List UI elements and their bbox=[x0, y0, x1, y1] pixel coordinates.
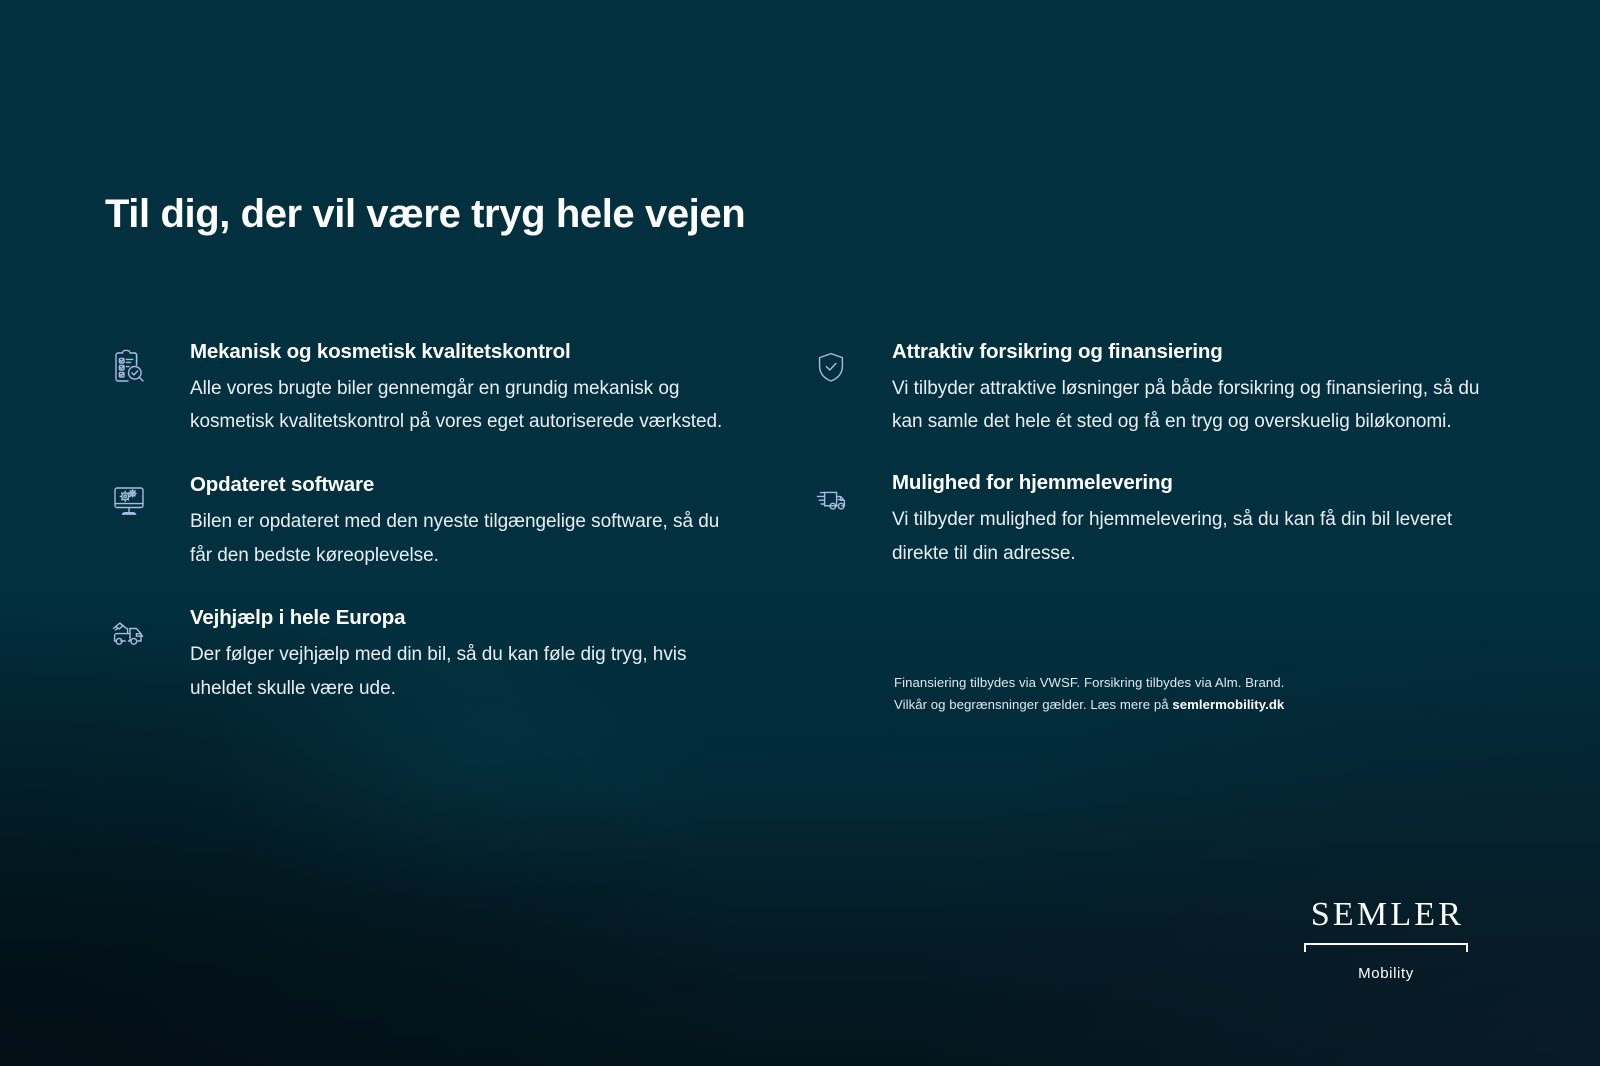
tow-truck-icon bbox=[98, 606, 160, 658]
logo-divider bbox=[1300, 943, 1472, 955]
feature-text: Vi tilbyder mulighed for hjemmelevering,… bbox=[892, 503, 1500, 571]
fineprint-line-2-text: Vilkår og begrænsninger gælder. Læs mere… bbox=[894, 697, 1172, 712]
monitor-gears-icon bbox=[98, 473, 160, 525]
feature-text: Bilen er opdateret med den nyeste tilgæn… bbox=[190, 505, 738, 573]
semlermobility-link[interactable]: semlermobility.dk bbox=[1172, 697, 1284, 712]
feature-body: Mekanisk og kosmetisk kvalitetskontrol A… bbox=[160, 340, 738, 439]
logo-divider-tick-left bbox=[1304, 943, 1306, 952]
logo-divider-tick-right bbox=[1466, 943, 1468, 952]
logo-divider-bar bbox=[1304, 943, 1468, 945]
feature-title: Vejhjælp i hele Europa bbox=[190, 606, 738, 631]
delivery-truck-icon bbox=[800, 471, 862, 523]
feature-title: Mekanisk og kosmetisk kvalitetskontrol bbox=[190, 340, 738, 365]
logo-subtitle: Mobility bbox=[1300, 965, 1472, 982]
feature-column-left: Mekanisk og kosmetisk kvalitetskontrol A… bbox=[98, 340, 738, 740]
feature-title: Mulighed for hjemmelevering bbox=[892, 471, 1500, 496]
fineprint-line-1: Finansiering tilbydes via VWSF. Forsikri… bbox=[894, 672, 1414, 694]
feature-body: Opdateret software Bilen er opdateret me… bbox=[160, 473, 738, 572]
feature-item-quality-control: Mekanisk og kosmetisk kvalitetskontrol A… bbox=[98, 340, 738, 439]
fineprint-line-2: Vilkår og begrænsninger gælder. Læs mere… bbox=[894, 694, 1414, 716]
feature-text: Vi tilbyder attraktive løsninger på både… bbox=[892, 372, 1500, 440]
feature-text: Alle vores brugte biler gennemgår en gru… bbox=[190, 372, 738, 440]
promo-page: Til dig, der vil være tryg hele vejen bbox=[0, 0, 1600, 1066]
feature-item-home-delivery: Mulighed for hjemmelevering Vi tilbyder … bbox=[800, 471, 1500, 570]
feature-title: Opdateret software bbox=[190, 473, 738, 498]
feature-item-roadside-assistance: Vejhjælp i hele Europa Der følger vejhjæ… bbox=[98, 606, 738, 705]
feature-text: Der følger vejhjælp med din bil, så du k… bbox=[190, 638, 738, 706]
feature-title: Attraktiv forsikring og finansiering bbox=[892, 340, 1500, 365]
feature-item-updated-software: Opdateret software Bilen er opdateret me… bbox=[98, 473, 738, 572]
semler-mobility-logo: SEMLER Mobility bbox=[1300, 898, 1472, 982]
feature-body: Vejhjælp i hele Europa Der følger vejhjæ… bbox=[160, 606, 738, 705]
page-title: Til dig, der vil være tryg hele vejen bbox=[105, 192, 745, 237]
feature-item-insurance-financing: Attraktiv forsikring og finansiering Vi … bbox=[800, 340, 1500, 439]
feature-body: Mulighed for hjemmelevering Vi tilbyder … bbox=[862, 471, 1500, 570]
logo-wordmark: SEMLER bbox=[1300, 898, 1472, 932]
feature-column-right: Attraktiv forsikring og finansiering Vi … bbox=[800, 340, 1500, 604]
shield-check-icon bbox=[800, 340, 862, 392]
legal-fineprint: Finansiering tilbydes via VWSF. Forsikri… bbox=[894, 672, 1414, 716]
feature-body: Attraktiv forsikring og finansiering Vi … bbox=[862, 340, 1500, 439]
clipboard-checklist-magnifier-icon bbox=[98, 340, 160, 392]
